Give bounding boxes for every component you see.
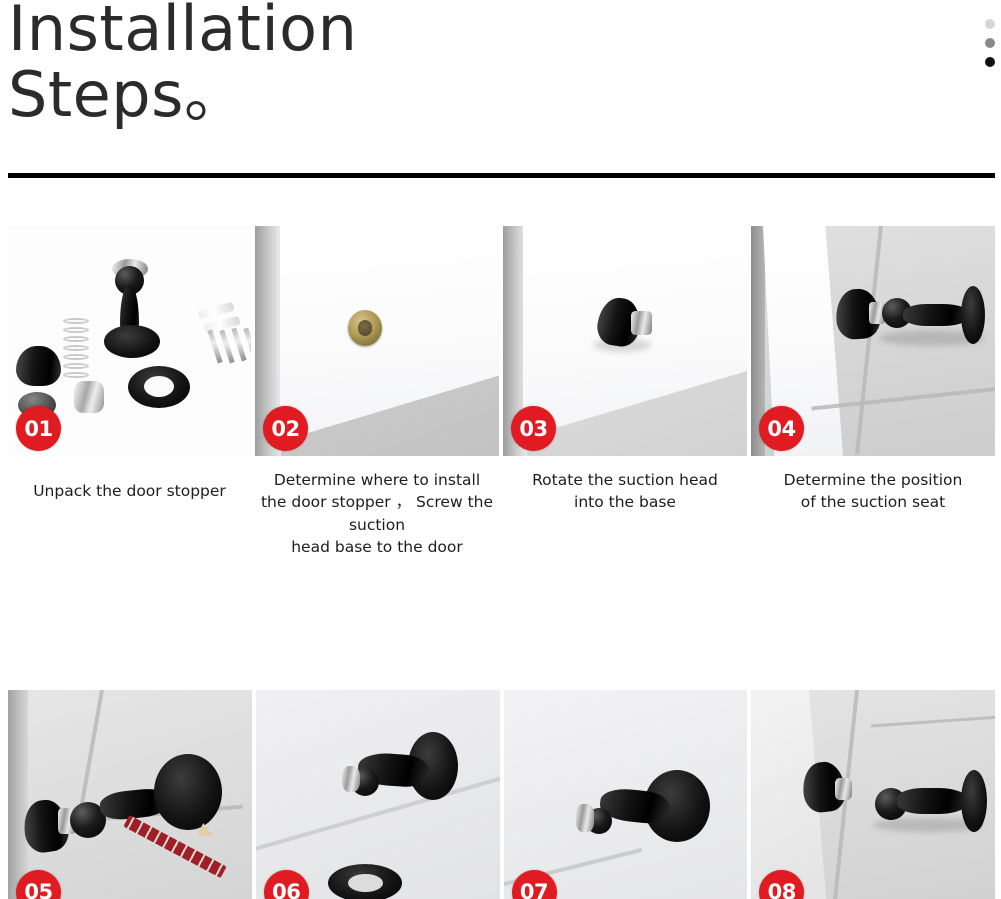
step-badge-01: 01 (16, 406, 61, 451)
step-image-07: 07 (504, 690, 748, 899)
step-caption-02: Determine where to install the door stop… (255, 469, 499, 559)
step-badge-03: 03 (511, 406, 556, 451)
pager-dot-1-icon[interactable] (985, 19, 995, 29)
step-caption-04: Determine the position of the suction se… (751, 469, 995, 514)
step-card-08: 08 Alright, you're done! (751, 690, 995, 899)
step-card-04: 04 Determine the position of the suction… (751, 226, 995, 559)
step-image-02: 02 (255, 226, 499, 456)
steps-grid: 01 Unpack the door stopper 02 Determin (8, 226, 995, 899)
step-card-01: 01 Unpack the door stopper (8, 226, 251, 559)
header-divider (8, 173, 995, 178)
steps-row-2: 05 Position the suction head and suction… (8, 690, 995, 899)
step-card-03: 03 Rotate the suction head into the base (503, 226, 747, 559)
page-title: Installation Steps。 (8, 0, 888, 127)
step-badge-04: 04 (759, 406, 804, 451)
step-card-05: 05 Position the suction head and suction… (8, 690, 252, 899)
step-badge-02: 02 (263, 406, 308, 451)
step-image-05: 05 (8, 690, 252, 899)
pager-dot-3-icon[interactable] (985, 57, 995, 67)
step-caption-01: Unpack the door stopper (8, 480, 251, 502)
step-image-01: 01 (8, 226, 251, 456)
step-image-03: 03 (503, 226, 747, 456)
step-image-08: 08 (751, 690, 995, 899)
page-header: Installation Steps。 (0, 0, 1001, 180)
step-caption-03: Rotate the suction head into the base (503, 469, 747, 514)
pager-dots[interactable] (985, 19, 995, 67)
steps-row-1: 01 Unpack the door stopper 02 Determin (8, 226, 995, 559)
step-card-06: 06 Fix the suction seat with screws on t… (256, 690, 500, 899)
installation-steps-page: Installation Steps。 (0, 0, 1001, 899)
step-card-02: 02 Determine where to install the door s… (255, 226, 499, 559)
step-card-07: 07 Rotate the decorated cover plate to t… (504, 690, 748, 899)
pager-dot-2-icon[interactable] (985, 38, 995, 48)
step-image-04: 04 (751, 226, 995, 456)
step-image-06: 06 (256, 690, 500, 899)
